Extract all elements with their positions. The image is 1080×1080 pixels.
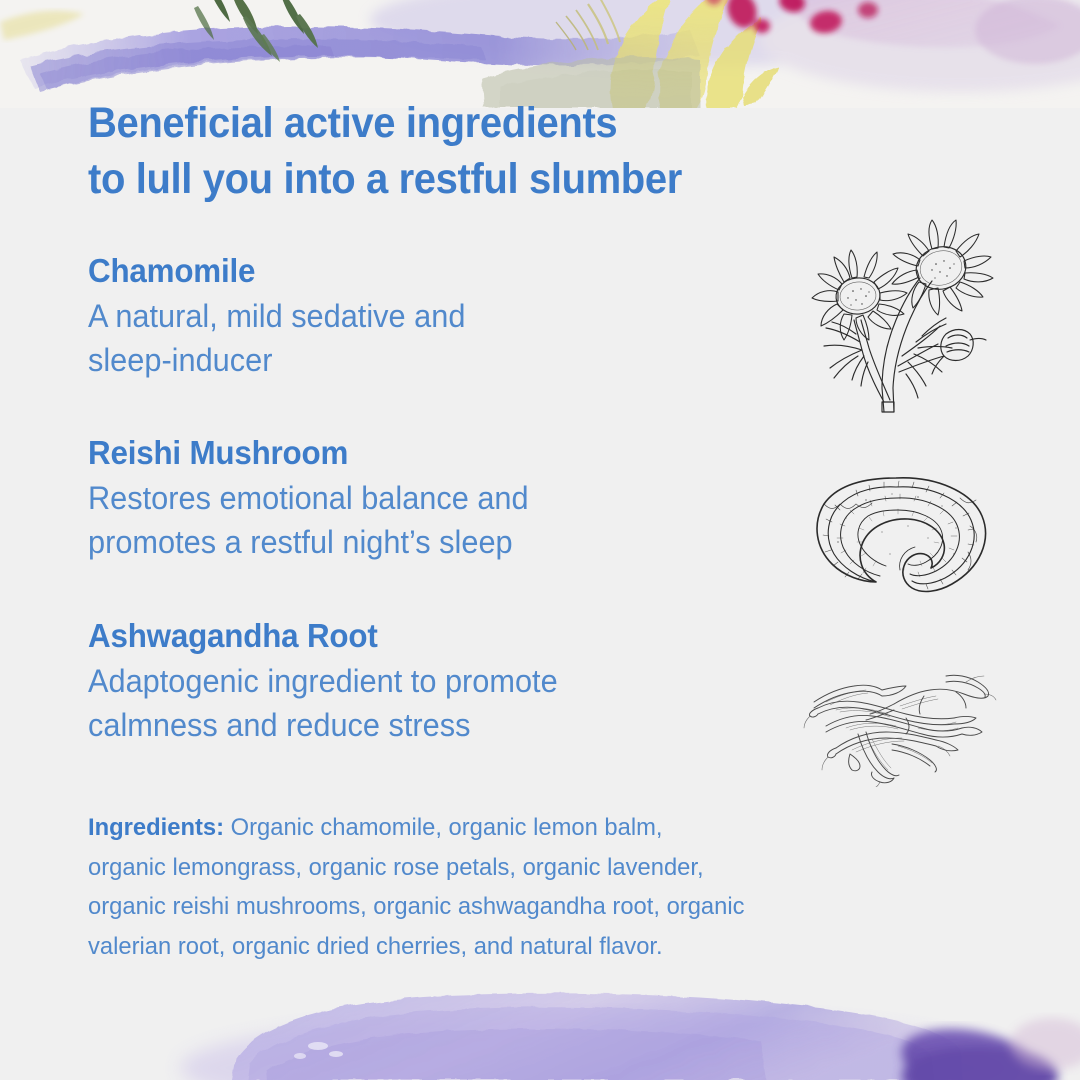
ingredient-description: A natural, mild sedative and sleep-induc…: [88, 294, 760, 382]
ingredient-title: Ashwagandha Root: [88, 617, 753, 656]
ingredients-paragraph: Ingredients: Organic chamomile, organic …: [88, 808, 971, 967]
ingredient-title: Reishi Mushroom: [88, 434, 753, 473]
ingredient-description-line-1: A natural, mild sedative and: [88, 294, 760, 338]
ashwagandha-root-illustration: [796, 662, 1001, 787]
ingredient-block-ashwagandha-root: Ashwagandha Root Adaptogenic ingredient …: [88, 617, 788, 747]
ingredients-label: Ingredients:: [88, 814, 224, 841]
ingredients-line-3: organic reishi mushrooms, organic ashwag…: [88, 887, 971, 927]
watercolor-wash-top: [0, 0, 1080, 108]
ingredient-description: Adaptogenic ingredient to promote calmne…: [88, 659, 760, 747]
ingredients-line-1: Organic chamomile, organic lemon balm,: [224, 814, 663, 841]
ingredients-line-2: organic lemongrass, organic rose petals,…: [88, 848, 971, 888]
ingredient-description-line-2: calmness and reduce stress: [88, 703, 760, 747]
ingredient-description-line-1: Restores emotional balance and: [88, 476, 760, 520]
ingredient-description-line-2: sleep-inducer: [88, 338, 760, 382]
chamomile-flower-illustration: [798, 216, 1008, 421]
headline-line-2: to lull you into a restful slumber: [88, 152, 832, 208]
ingredient-description-line-2: promotes a restful night’s sleep: [88, 520, 760, 564]
page-title: Beneficial active ingredients to lull yo…: [88, 96, 832, 208]
ingredient-description-line-1: Adaptogenic ingredient to promote: [88, 659, 760, 703]
ingredient-block-chamomile: Chamomile A natural, mild sedative and s…: [88, 252, 788, 382]
reishi-mushroom-illustration: [800, 470, 995, 605]
ingredients-line-4: valerian root, organic dried cherries, a…: [88, 927, 971, 967]
ingredient-title: Chamomile: [88, 252, 753, 291]
ingredients-first-line: Ingredients: Organic chamomile, organic …: [88, 808, 971, 848]
headline-line-1: Beneficial active ingredients: [88, 96, 832, 152]
ingredient-description: Restores emotional balance and promotes …: [88, 476, 760, 564]
ingredient-block-reishi-mushroom: Reishi Mushroom Restores emotional balan…: [88, 434, 788, 564]
watercolor-wash-bottom: [0, 972, 1080, 1080]
